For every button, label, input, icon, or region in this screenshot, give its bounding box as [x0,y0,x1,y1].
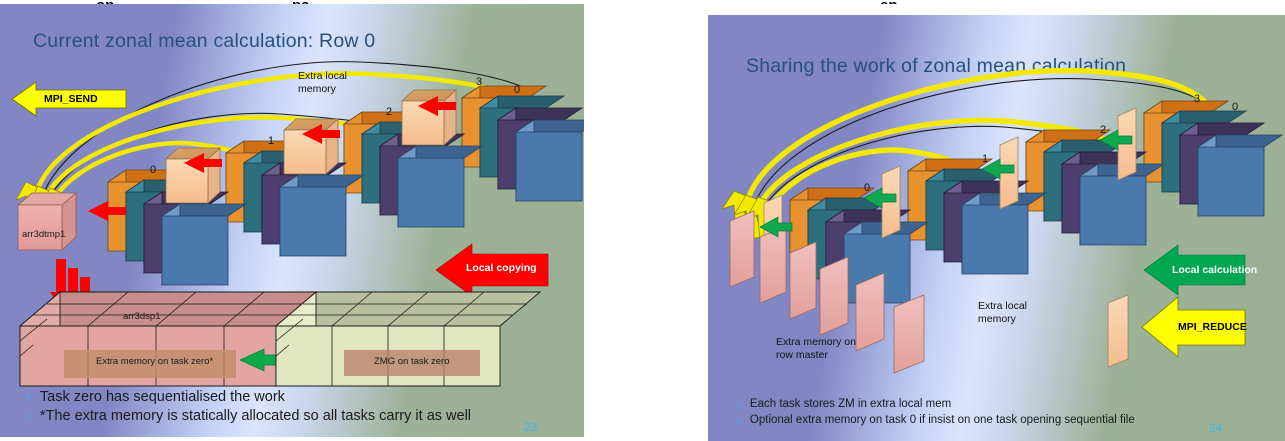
bullet-text: *The extra memory is statically allocate… [40,407,471,426]
task-index-3: 3 [476,76,482,88]
extra-memory-task-zero-label: Extra memory on task zero* [96,356,213,367]
bullet-dot-icon: • [736,396,741,412]
bullet-dot-icon: • [26,407,31,423]
task-index-next-row-0: 0 [514,84,520,96]
arr3dtmp1-label: arr3dtmp1 [22,229,65,240]
task-cube-group-3 [908,159,1046,274]
bullet-dot-icon: • [26,388,31,404]
slide-sharing-the-work[interactable]: Sharing the work of zonal mean calculati… [708,15,1285,441]
arr3dtmp1-cube [18,193,76,250]
slide-left-bullet-list: • Task zero has sequentialised the work … [26,388,574,426]
bullet-item: • *The extra memory is statically alloca… [26,407,574,426]
slide-current-zonal-mean[interactable]: Current zonal mean calculation: Row 0 [0,4,584,437]
bullet-text: Optional extra memory on task 0 if insis… [750,412,1135,428]
memory-cube-3 [284,119,338,174]
memory-cube-4 [402,90,456,145]
task-cube-group-5 [1144,101,1282,216]
task-cube-group-4 [1026,130,1164,245]
task-index-0: 0 [150,164,156,176]
bullet-item: • Optional extra memory on task 0 if ins… [736,412,1275,428]
mpi-send-arrow-label: MPI_SEND [44,93,98,105]
task-index-next-row-0: 0 [1232,101,1238,113]
arr3dsp1-label: arr3dsp1 [123,311,161,322]
local-copying-arrow-label: Local copying [466,262,537,274]
task-index-1: 1 [268,135,274,147]
zmg-task-zero-label: ZMG on task zero [374,356,450,367]
task-cube-group-5 [462,86,584,201]
extra-local-memory-note: Extra local memory [978,300,1027,325]
mpi-reduce-arrow-label: MPI_REDUCE [1178,321,1247,333]
task-index-3: 3 [1194,93,1200,105]
zmg-slab [276,292,540,386]
top-text-fragment-right: ep [880,0,940,4]
memory-cube-2 [166,148,220,203]
bullet-text: Each task stores ZM in extra local mem [750,396,951,412]
task-index-2: 2 [1100,124,1106,136]
slide-left-graphics [0,4,584,437]
bullet-text: Task zero has sequentialised the work [40,388,285,407]
bullet-dot-icon: • [736,412,741,428]
dual-slide-screenshot: op pa ep Current zonal mean calculation:… [0,0,1285,441]
task-index-2: 2 [386,106,392,118]
task-index-1: 1 [982,153,988,165]
slide-page-number: 24 [1209,421,1222,435]
bullet-item: • Task zero has sequentialised the work [26,388,574,407]
task-index-0: 0 [864,182,870,194]
slide-right-graphics [708,15,1285,441]
bullet-item: • Each task stores ZM in extra local mem [736,396,1275,412]
extra-memory-row-master-note: Extra memory on row master [776,336,856,361]
local-calculation-arrow-label: Local calculation [1172,264,1257,276]
slide-right-bullet-list: • Each task stores ZM in extra local mem… [736,396,1275,428]
slide-page-number: 23 [524,420,537,434]
extra-local-memory-note: Extra local memory [298,70,347,95]
